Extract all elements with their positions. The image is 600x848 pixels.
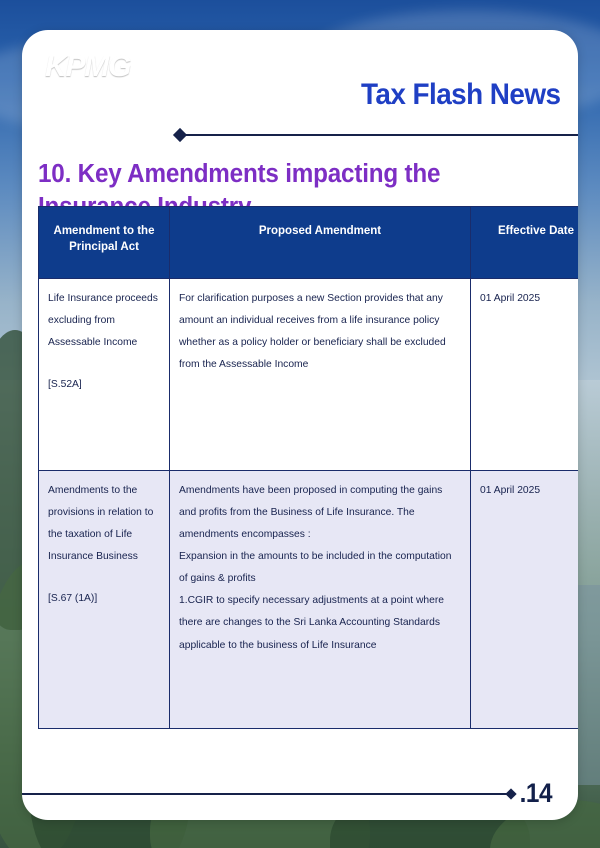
amendment-text: Life Insurance proceeds excluding from A… — [48, 293, 158, 348]
cell-amendment-to-principal-act: Life Insurance proceeds excluding from A… — [39, 278, 170, 470]
cell-effective-date: 01 April 2025 — [471, 470, 579, 728]
amendments-table: Amendment to the Principal Act Proposed … — [38, 206, 578, 729]
table-body: Life Insurance proceeds excluding from A… — [39, 278, 579, 728]
section-reference: [S.52A] — [48, 379, 82, 390]
cell-effective-date: 01 April 2025 — [471, 278, 579, 470]
cell-proposed-amendment: For clarification purposes a new Section… — [170, 278, 471, 470]
footer-rule — [22, 788, 578, 800]
column-header-amendment-to-principal-act: Amendment to the Principal Act — [39, 207, 170, 279]
spacer — [48, 354, 160, 374]
logo-wordmark: KPMG — [45, 52, 145, 82]
table-head: Amendment to the Principal Act Proposed … — [39, 207, 579, 279]
amendment-text: Amendments to the provisions in relation… — [48, 485, 153, 562]
spacer — [48, 568, 160, 588]
page-card: Tax Flash News 10. Key Amendments impact… — [22, 30, 578, 820]
table-row: Life Insurance proceeds excluding from A… — [39, 278, 579, 470]
table-row: Amendments to the provisions in relation… — [39, 470, 579, 728]
kpmg-logo: KPMG — [45, 36, 145, 92]
rule-line — [183, 134, 578, 136]
column-header-proposed-amendment: Proposed Amendment — [170, 207, 471, 279]
rule-line — [22, 793, 511, 795]
amendments-table-wrapper: Amendment to the Principal Act Proposed … — [38, 206, 562, 729]
header-rule — [175, 129, 578, 141]
table-header-row: Amendment to the Principal Act Proposed … — [39, 207, 579, 279]
column-header-effective-date: Effective Date — [471, 207, 579, 279]
cell-amendment-to-principal-act: Amendments to the provisions in relation… — [39, 470, 170, 728]
diamond-icon — [505, 788, 516, 799]
masthead-title: Tax Flash News — [361, 78, 560, 112]
page-number: .14 — [520, 778, 552, 809]
cell-proposed-amendment: Amendments have been proposed in computi… — [170, 470, 471, 728]
section-reference: [S.67 (1A)] — [48, 593, 97, 604]
